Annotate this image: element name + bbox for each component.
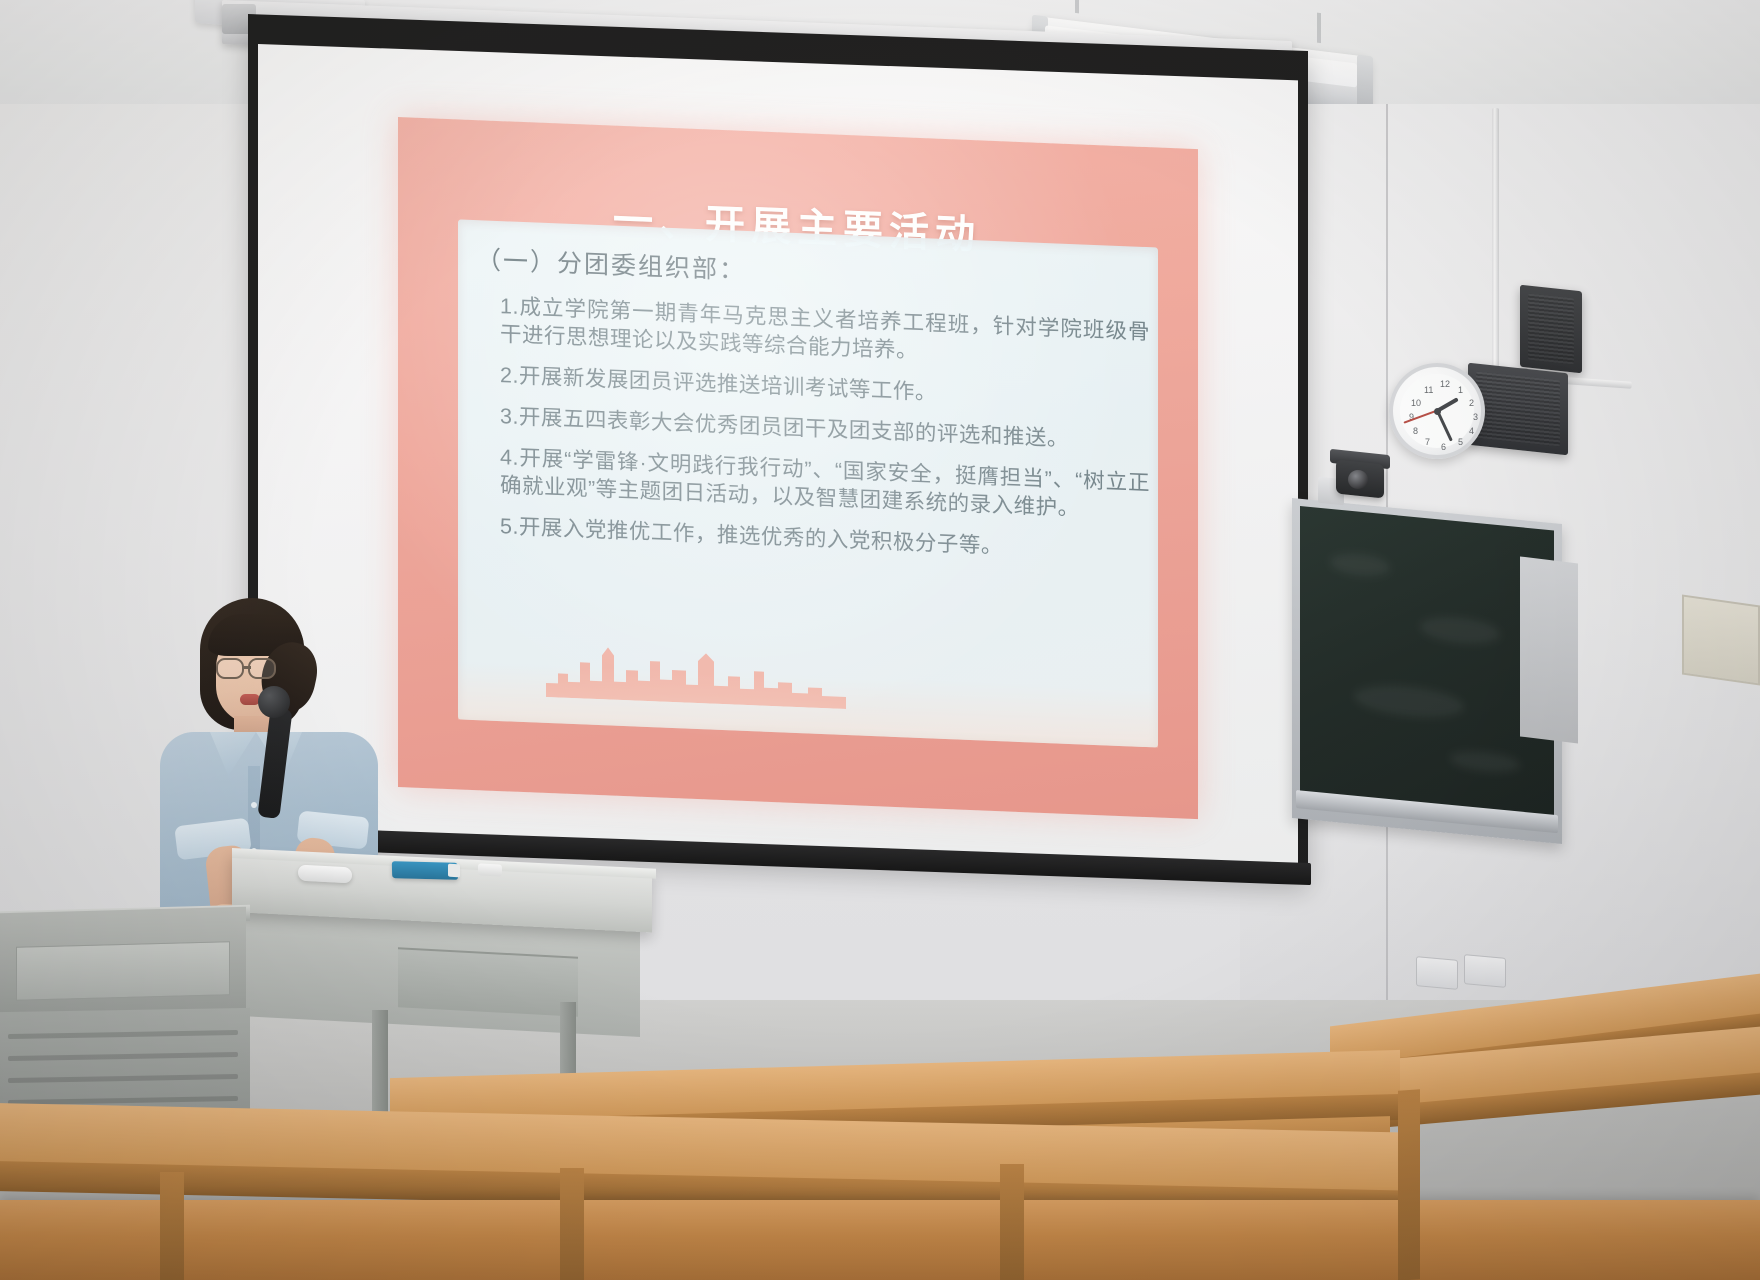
desk-row-foreground xyxy=(0,1200,1760,1280)
slide-subtitle: （一）分团委组织部： xyxy=(476,240,746,287)
clock-face: 12 1 2 3 4 5 6 7 8 9 10 11 xyxy=(1400,374,1474,448)
clock-numeral-1: 1 xyxy=(1458,385,1463,395)
clock-center-pin xyxy=(1434,408,1441,415)
wall-panel-right xyxy=(1520,556,1578,743)
desk-divider-3 xyxy=(1000,1164,1024,1280)
clock-numeral-5: 5 xyxy=(1458,437,1463,447)
clock-numeral-2: 2 xyxy=(1469,398,1474,408)
lectern-shelf xyxy=(398,947,578,1016)
wall-clock: 12 1 2 3 4 5 6 7 8 9 10 11 xyxy=(1389,363,1485,459)
slide-content-card: （一）分团委组织部： 1.成立学院第一期青年马克思主义者培养工程班，针对学院班级… xyxy=(458,219,1158,747)
wall-notice-board xyxy=(1682,595,1760,686)
clock-numeral-4: 4 xyxy=(1469,426,1474,436)
clock-minute-hand xyxy=(1436,410,1453,441)
desk-divider-2 xyxy=(560,1168,584,1280)
shirt-button-1 xyxy=(251,802,257,808)
clock-numeral-8: 8 xyxy=(1413,426,1418,436)
cabinet-front-panel xyxy=(16,941,230,1001)
clock-numeral-7: 7 xyxy=(1425,437,1430,447)
desk-divider-1 xyxy=(160,1172,184,1280)
blackboard xyxy=(1300,506,1554,826)
clock-numeral-12: 12 xyxy=(1440,379,1450,389)
eyeglasses-right-lens-icon xyxy=(248,658,276,679)
eyeglasses-bridge xyxy=(243,666,251,669)
camera-lens-icon xyxy=(1348,470,1368,489)
slide-bullet-list: 1.成立学院第一期青年马克思主义者培养工程班，针对学院班级骨干进行思想理论以及实… xyxy=(500,293,1150,580)
clock-numeral-6: 6 xyxy=(1441,442,1446,452)
clock-numeral-11: 11 xyxy=(1424,385,1433,395)
wall-outlet-1 xyxy=(1416,956,1458,990)
slide-bullet-1: 1.成立学院第一期青年马克思主义者培养工程班，针对学院班级骨干进行思想理论以及实… xyxy=(500,293,1150,375)
slide-bullet-4: 4.开展“学雷锋·文明践行我行动”、“国家安全，挺膺担当”、“树立正确就业观”等… xyxy=(500,444,1150,526)
classroom-photo: 一、开展主要活动 （一）分团委组织部： 1.成立学院第一期青年马克思主义者培养工… xyxy=(0,0,1760,1280)
projected-slide: 一、开展主要活动 （一）分团委组织部： 1.成立学院第一期青年马克思主义者培养工… xyxy=(398,117,1198,819)
lips xyxy=(240,694,260,705)
wall-conduit xyxy=(1492,108,1499,378)
eyeglasses-left-lens-icon xyxy=(216,658,244,679)
microphone-holder-icon xyxy=(298,865,352,884)
clock-numeral-3: 3 xyxy=(1473,412,1478,422)
laser-pointer-cap xyxy=(448,864,460,878)
wall-speaker-upper-icon xyxy=(1520,285,1582,374)
remote-control-icon xyxy=(478,863,502,876)
microphone-head-icon xyxy=(258,686,290,718)
wall-outlet-2 xyxy=(1464,954,1506,988)
clock-numeral-10: 10 xyxy=(1411,398,1421,408)
desk-divider-4 xyxy=(1398,1089,1420,1280)
